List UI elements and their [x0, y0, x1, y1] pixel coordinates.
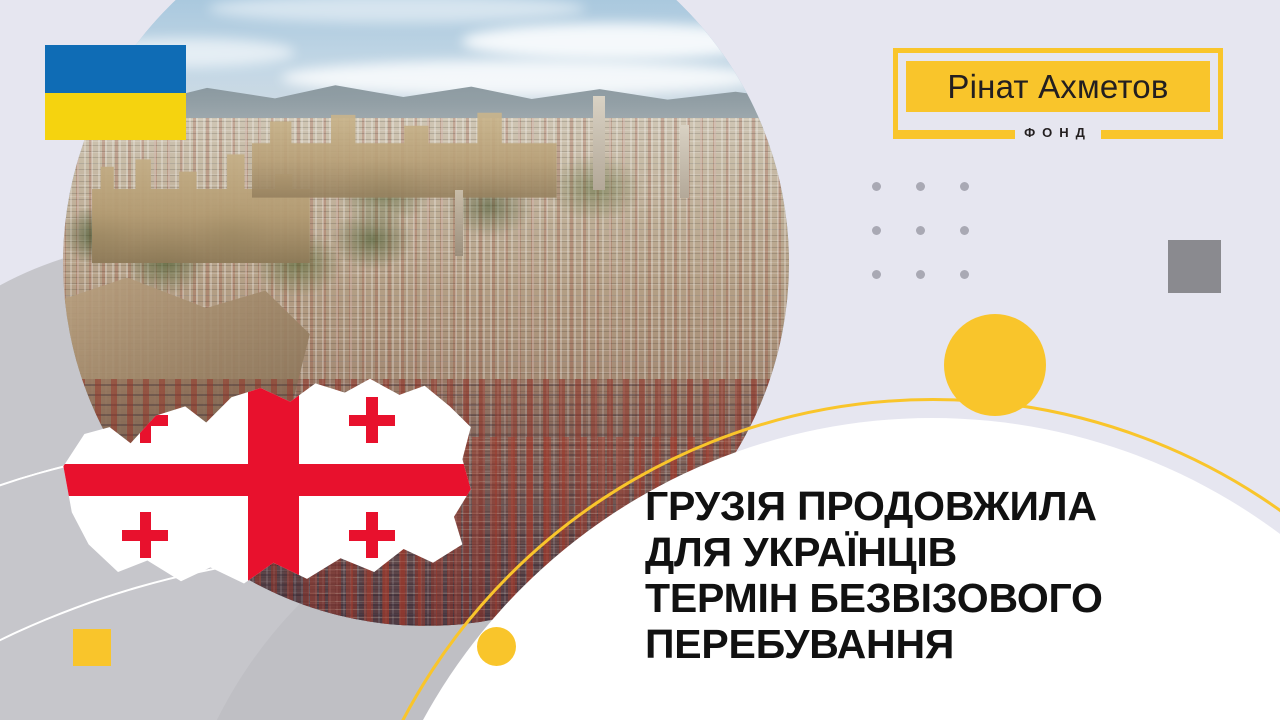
ukraine-flag [45, 45, 186, 140]
grid-dot [960, 182, 969, 191]
georgian-cross-horizontal [55, 464, 475, 496]
grid-dot [872, 226, 881, 235]
headline-line-1: ГРУЗІЯ ПРОДОВЖИЛА [645, 483, 1245, 529]
tower [680, 125, 689, 198]
dot-grid-3x3 [872, 182, 1004, 314]
grid-dot [872, 270, 881, 279]
logo-rule-left [898, 130, 1015, 135]
tree-canopy [281, 118, 789, 278]
headline-line-3: ТЕРМІН БЕЗВІЗОВОГО [645, 575, 1245, 621]
headline: ГРУЗІЯ ПРОДОВЖИЛА ДЛЯ УКРАЇНЦІВ ТЕРМІН Б… [645, 483, 1245, 667]
headline-line-4: ПЕРЕБУВАННЯ [645, 621, 1245, 667]
logo-name-plate: Рінат Ахметов [906, 61, 1210, 112]
yellow-circle-large [944, 314, 1046, 416]
grid-dot [872, 182, 881, 191]
yellow-square [73, 629, 111, 666]
georgian-bolnisi-cross [349, 397, 395, 443]
headline-line-2: ДЛЯ УКРАЇНЦІВ [645, 529, 1245, 575]
logo-rule-right [1101, 130, 1218, 135]
foundation-logo: Рінат Ахметов ФОНД [893, 48, 1223, 139]
grid-dot [960, 270, 969, 279]
logo-subtitle-text: ФОНД [1015, 126, 1101, 139]
cloud [462, 23, 767, 59]
yellow-circle-small [477, 627, 516, 666]
grid-dot [960, 226, 969, 235]
news-card: Рінат Ахметов ФОНД ГРУЗІЯ ПРОДОВЖИЛА ДЛЯ… [0, 0, 1280, 720]
ukraine-flag-blue-band [45, 45, 186, 93]
tower [593, 96, 605, 190]
gray-square [1168, 240, 1221, 293]
georgian-bolnisi-cross [122, 512, 168, 558]
grid-dot [916, 226, 925, 235]
grid-dot [916, 270, 925, 279]
logo-subtitle-row: ФОНД [898, 125, 1218, 139]
grid-dot [916, 182, 925, 191]
church-tower [455, 190, 463, 255]
logo-name-text: Рінат Ахметов [947, 68, 1168, 106]
ukraine-flag-yellow-band [45, 93, 186, 141]
georgian-bolnisi-cross [349, 512, 395, 558]
